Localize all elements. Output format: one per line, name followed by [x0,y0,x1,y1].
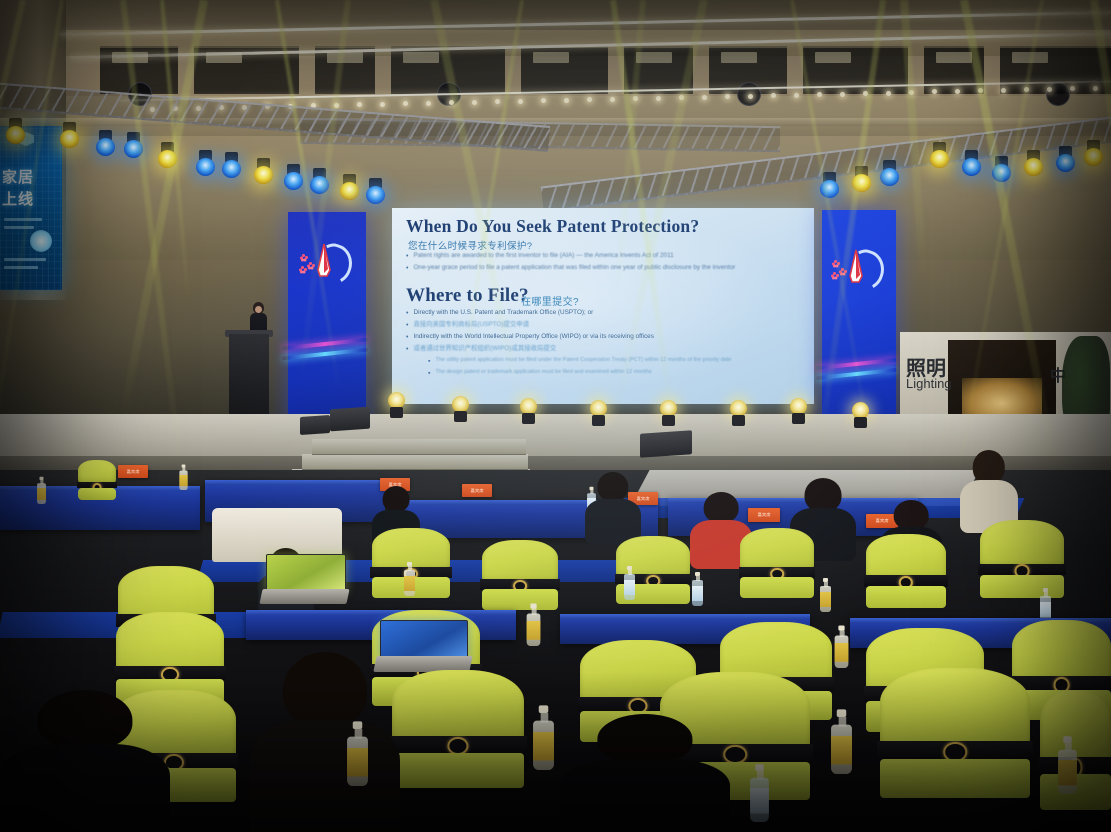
bullet-marker: • [406,333,408,344]
ceiling-spot [656,96,661,101]
chair-back-cover [740,528,814,571]
bullet-marker: ▪ [428,369,430,380]
fixture-lamp [820,180,839,198]
chair-back-cover [866,534,946,580]
stage-monitor-speaker [330,407,370,432]
storefront-logo-icon [1046,82,1070,106]
bottle-label [179,475,187,486]
storefront-sign [403,52,439,63]
fixture-base [522,413,535,424]
moving-head-light-blue [820,172,839,198]
ceiling-spot [472,100,477,105]
chair-back-cover [482,540,558,583]
ceiling-spot [840,92,845,97]
chair-back-cover [880,668,1030,749]
projection-screen: When Do You Seek Patent Protection? 您在什么… [392,208,814,404]
moving-head-light-blue [96,130,115,156]
ceiling-spot [909,90,914,95]
ceiling-spot [1001,88,1006,93]
ceiling-spot [426,101,431,106]
stage-moving-head [852,402,869,428]
storefront-sign [327,52,363,63]
audience-member [560,714,730,832]
bullet-text: Indirectly with the World Intellectual P… [413,333,653,344]
bottle-label [820,592,831,607]
water-bottle [820,578,831,612]
audience-member [960,450,1018,530]
blossom-icon [299,266,306,273]
ceiling-spot [955,89,960,94]
chair-seat [482,589,558,610]
fixture-lamp [1056,154,1075,172]
fixture-lamp [254,166,273,184]
bottle-label [1058,760,1077,786]
water-bottle [527,604,541,647]
slide-bullet: ▪The design patent or trademark applicat… [428,369,806,380]
fixture-lamp [880,168,899,186]
ad-text-line [4,226,34,229]
moving-head-light-amber [340,174,359,200]
audience-chair[interactable] [482,540,558,610]
slide-bullet: •或者通过世界知识产权组织(WIPO)或其接收局提交 [406,345,806,356]
ad-line1: 家居 [2,166,34,187]
audience-chair[interactable] [980,520,1064,598]
stage-moving-head [790,398,807,424]
fixture-lamp [196,158,215,176]
ceiling-spot [886,91,891,96]
moving-head-light-blue [880,160,899,186]
table-top-edge [560,614,810,619]
water-bottle [1040,588,1051,622]
fixture-base [454,411,467,422]
chair-seat [78,488,116,500]
advertisement-led-screen: 家居 上线 [0,126,62,290]
person-head [597,472,628,501]
ceiling-spot [380,102,385,107]
stage-banner-left [288,212,366,430]
water-bottle [835,626,849,669]
slide-bullet: •One-year grace period to file a patent … [406,264,806,275]
fixture-lamp [340,182,359,200]
fixture-lamp [310,176,329,194]
moving-head-light-blue [962,150,981,176]
slide-heading-1: When Do You Seek Patent Protection? [406,216,699,237]
moving-head-light-blue [222,152,241,178]
moving-head-light-blue [196,150,215,176]
water-bottle [831,709,852,774]
bottle-cap [539,705,549,713]
water-bottle [533,705,554,770]
storefront-sign [815,52,851,63]
audience-chair[interactable] [78,460,116,500]
bottle-label [750,788,769,814]
bottle-label [831,736,852,765]
stage-moving-head [590,400,607,426]
chair-back-cover [78,460,116,485]
water-bottle [347,721,368,786]
slide-bullets-section-1: •Patent rights are awarded to the first … [406,252,806,276]
water-bottle [692,572,703,606]
fixture-lamp [222,160,241,178]
ad-text-line [4,266,38,269]
bullet-marker: • [406,309,408,320]
moving-head-light-amber [158,142,177,168]
fixture-base [854,417,867,428]
ad-line2: 上线 [2,188,34,209]
laptop-screen [266,554,346,592]
ad-globe-icon [30,230,52,252]
blossom-icon [300,254,307,261]
ad-text-line [4,258,46,261]
person-head [704,492,739,523]
moving-head-light-blue [284,164,303,190]
chair-seat [866,586,946,608]
person-head [973,450,1005,484]
stage-monitor-speaker [640,430,692,458]
audience-chair[interactable] [740,528,814,598]
chair-back-cover [392,670,524,743]
table-top-edge [205,480,385,485]
bullet-text: Directly with the U.S. Patent and Tradem… [413,309,593,320]
ad-text-line [4,218,42,221]
blossom-icon [307,262,314,269]
fixture-lamp [1024,158,1043,176]
storefront-sign [936,52,972,63]
bottle-cap [353,721,363,729]
person-head [37,690,132,750]
rocket-orbit-logo [830,246,886,294]
presenter-face [255,306,262,313]
banner-swoosh-cyan [816,368,897,380]
fixture-lamp [284,172,303,190]
bottle-cap [837,709,847,717]
fixture-lamp [158,150,177,168]
fixture-base [592,415,605,426]
audience-chair[interactable] [880,668,1030,798]
slide-bullet: •Indirectly with the World Intellectual … [406,333,806,344]
ceiling-spot [610,97,615,102]
ceiling-spot [1093,86,1098,91]
chair-seat [880,759,1030,798]
moving-head-light-blue [992,156,1011,182]
moving-head-light-amber [6,118,25,144]
bullet-text: The design patent or trademark applicati… [435,369,651,380]
ceiling-spot [564,98,569,103]
person-head [283,652,367,728]
name-placard: 嘉宾席 [462,484,492,497]
water-bottle [624,566,635,600]
name-placard: 嘉宾席 [118,465,148,478]
audience-member [585,472,641,542]
bullet-text: 直接向美国专利商标局(USPTO)提交申请 [413,321,529,332]
slide-bullets-section-2: •Directly with the U.S. Patent and Trade… [406,309,806,381]
ceiling-spot [518,99,523,104]
placard-text: 嘉宾席 [757,512,770,518]
slide-bullet: •直接向美国专利商标局(USPTO)提交申请 [406,321,806,332]
slide-subtitle-2-cn: 在哪里提交? [521,293,579,308]
person-head [894,500,929,530]
bottle-label [624,580,635,595]
moving-head-light-amber [60,122,79,148]
ceiling-spot [863,91,868,96]
bottle-label [347,748,368,777]
placard-text: 嘉宾席 [126,469,139,475]
person-torso [250,720,400,832]
bullet-text: The utility patent application must be f… [435,357,731,368]
bullet-text: One-year grace period to file a patent a… [413,264,735,275]
fixture-lamp [992,164,1011,182]
bottle-label [527,621,541,640]
laptop[interactable] [266,554,344,604]
fixture-lamp [124,140,143,158]
ceiling-spot [794,93,799,98]
fixture-lamp [962,158,981,176]
audience-chair[interactable] [392,670,524,788]
bottle-label [533,732,554,761]
bullet-marker: • [406,264,408,275]
signage-english: Lighting [906,376,952,391]
bottle-label [37,488,46,500]
chair-back-cover [980,520,1064,568]
banner-swoosh-cyan [282,348,368,361]
bottle-cap [755,764,764,771]
laptop-keyboard [260,589,351,604]
bullet-marker: ▪ [428,357,430,368]
ceiling-spot [748,94,753,99]
water-bottle [404,562,415,596]
person-torso [560,759,730,832]
moving-head-light-blue [310,168,329,194]
moving-head-light-blue [124,132,143,158]
storefront-sign [636,52,672,63]
name-placard: 嘉宾席 [748,508,780,522]
bullet-marker: • [406,252,408,263]
ceiling-spot [1047,87,1052,92]
chair-seat [980,575,1064,598]
bullet-text: Patent rights are awarded to the first i… [413,252,673,263]
moving-head-light-blue [1056,146,1075,172]
person-head [383,486,410,512]
fixture-base [662,415,675,426]
moving-head-light-amber [852,166,871,192]
bottle-label [404,576,415,591]
person-torso [0,744,170,832]
fixture-lamp [6,126,25,144]
ceiling-spot [702,95,707,100]
moving-head-light-amber [930,142,949,168]
water-bottle [179,465,187,491]
audience-member [250,652,400,832]
fixture-lamp [1084,148,1103,166]
person-head [805,478,842,512]
stage-moving-head [520,398,537,424]
blossom-icon [832,260,839,267]
storefront-sign [1012,52,1048,63]
stage-moving-head [730,400,747,426]
slide-bullet: ▪The utility patent application must be … [428,357,806,368]
slide-bullet: •Patent rights are awarded to the first … [406,252,806,263]
fixture-lamp [366,186,385,204]
audience-chair[interactable] [866,534,946,608]
fixture-base [390,407,403,418]
chair-seat [392,753,524,788]
fixture-lamp [930,150,949,168]
storefront-sign [721,52,757,63]
blossom-icon [839,268,846,275]
bullet-marker: • [406,345,408,356]
ceiling-spot [771,93,776,98]
bottle-cap [1063,736,1072,743]
moving-head-light-amber [254,158,273,184]
slide-heading-2: Where to File? [406,285,529,307]
bullet-marker: • [406,321,408,332]
moving-head-light-amber [1024,150,1043,176]
stage-moving-head [388,392,405,418]
ceiling-spot [817,92,822,97]
stage-step [312,439,526,455]
bottle-label [835,643,849,662]
fixture-lamp [852,174,871,192]
fixture-base [792,413,805,424]
slide-subtitle-1-cn: 您在什么时候寻求专利保护? [408,238,532,252]
fixture-lamp [96,138,115,156]
stage-moving-head [452,396,469,422]
water-bottle [750,764,769,822]
bullet-text: 或者通过世界知识产权组织(WIPO)或其接收局提交 [413,345,556,356]
ceiling-spot [334,103,339,108]
fixture-base [732,415,745,426]
fixture-lamp [60,130,79,148]
moving-head-light-blue [366,178,385,204]
water-bottle [37,477,46,504]
rocket-orbit-logo [298,240,354,288]
bottle-label [1040,602,1051,617]
stage-moving-head [660,400,677,426]
person-head [597,714,692,764]
stage-step [302,454,528,470]
stage-monitor-speaker [300,415,330,435]
chair-seat [740,577,814,598]
placard-text: 嘉宾席 [470,488,483,494]
slide-bullet: •Directly with the U.S. Patent and Trade… [406,309,806,320]
moving-head-light-amber [1084,140,1103,166]
water-bottle [1058,736,1077,794]
blossom-icon [831,272,838,279]
bottle-label [692,586,703,601]
audience-member [0,690,170,832]
storefront-sign [533,52,569,63]
conference-hall-photo: 家居 上线 When Do You Seek Patent Protection… [0,0,1111,832]
chair-back-cover [116,612,224,672]
